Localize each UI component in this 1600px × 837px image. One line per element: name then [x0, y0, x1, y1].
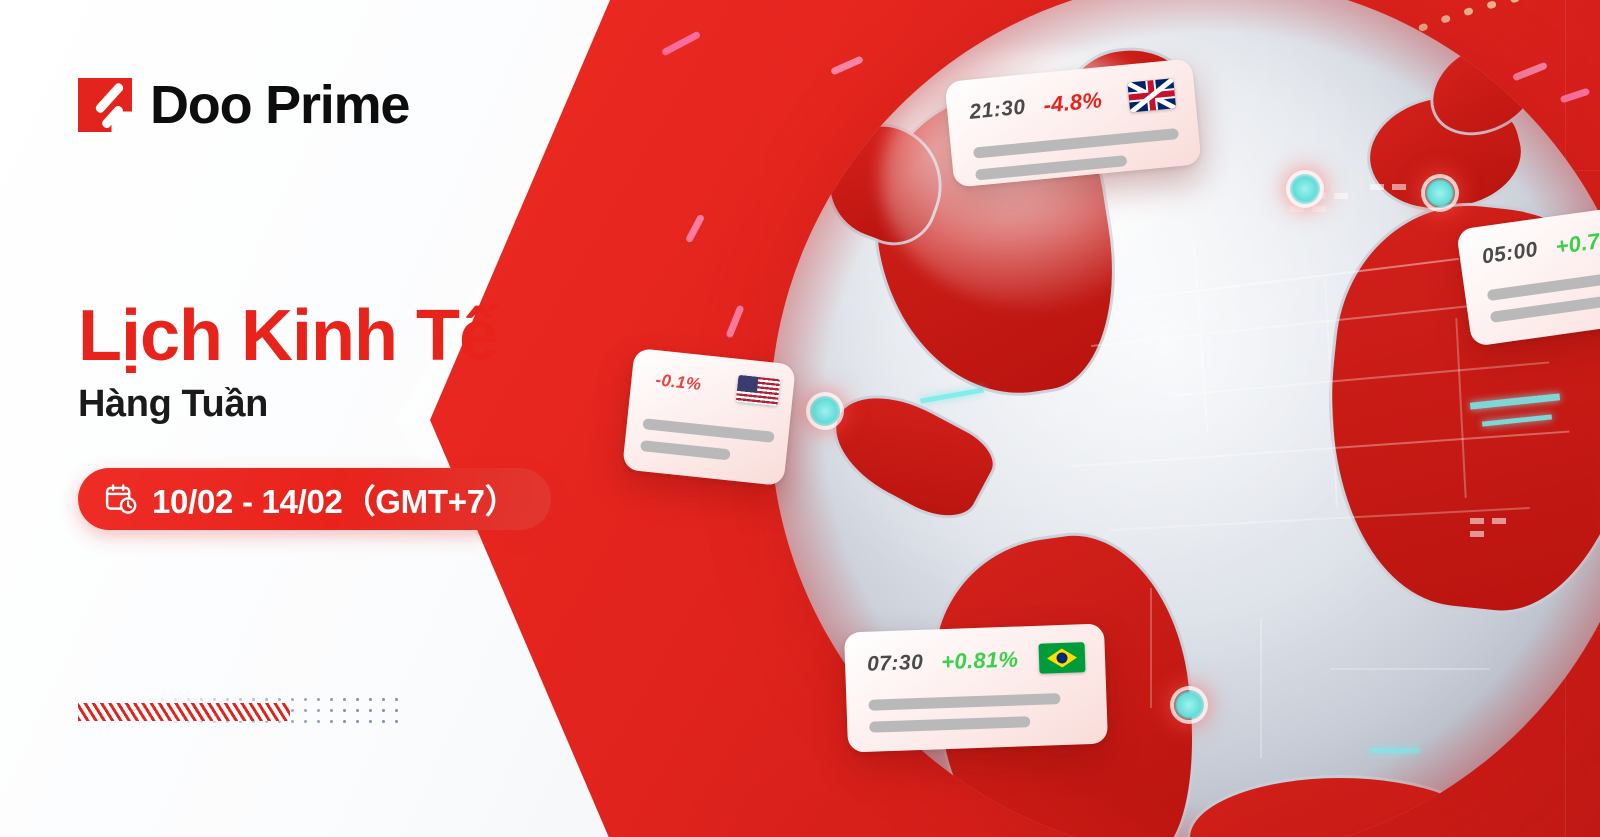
calendar-clock-icon [104, 482, 138, 516]
date-range-badge[interactable]: 10/02 - 14/02（GMT+7） [78, 468, 551, 530]
us-flag-icon [736, 375, 781, 406]
page-subtitle: Hàng Tuần [78, 385, 268, 423]
card-time: 05:00 [1480, 238, 1539, 270]
date-range-text: 10/02 - 14/02（GMT+7） [152, 475, 517, 523]
card-change: -0.1% [655, 370, 703, 395]
location-marker-brazil [1174, 690, 1204, 720]
market-card-us[interactable]: -0.1% [622, 348, 796, 486]
decorative-pattern [78, 694, 408, 730]
br-flag-icon [1038, 642, 1085, 674]
card-change: +0.7% [1554, 225, 1600, 260]
card-header: 07:30 +0.81% [867, 642, 1086, 680]
placeholder-bar [869, 716, 1031, 733]
placeholder-bar [868, 693, 1060, 711]
placeholder-bar [642, 418, 774, 443]
card-header: 21:30 -4.8% [968, 78, 1176, 128]
card-placeholder-bars [640, 418, 775, 465]
card-placeholder-bars [1487, 261, 1600, 323]
location-marker-us [810, 396, 840, 426]
card-time: 21:30 [968, 96, 1026, 125]
uk-flag-icon [1127, 78, 1176, 112]
card-change: -4.8% [1042, 87, 1103, 119]
placeholder-bar [640, 440, 730, 460]
landmass-central-america [818, 376, 1002, 531]
card-placeholder-bars [868, 692, 1087, 733]
placeholder-bar [1487, 271, 1600, 301]
hatch-bar-decoration [78, 703, 290, 721]
economic-calendar-banner: 21:30 -4.8% -0.1% 05:00 +0 [0, 0, 1600, 837]
card-change: +0.81% [941, 647, 1019, 676]
card-time: 07:30 [867, 651, 924, 677]
placeholder-bar [973, 128, 1179, 159]
doo-prime-logo-mark-icon [78, 78, 132, 132]
location-marker-europe [1425, 178, 1455, 208]
location-marker-uk [1290, 174, 1320, 204]
card-header: 05:00 +0.7% [1480, 216, 1600, 271]
landmass-antarctic-edge [1190, 778, 1490, 837]
page-title: Lịch Kinh Tế [78, 300, 498, 372]
brand-logo[interactable]: Doo Prime [78, 74, 409, 136]
market-card-brazil[interactable]: 07:30 +0.81% [844, 623, 1108, 752]
card-header: -0.1% [646, 365, 780, 406]
brand-name: Doo Prime [150, 74, 409, 136]
